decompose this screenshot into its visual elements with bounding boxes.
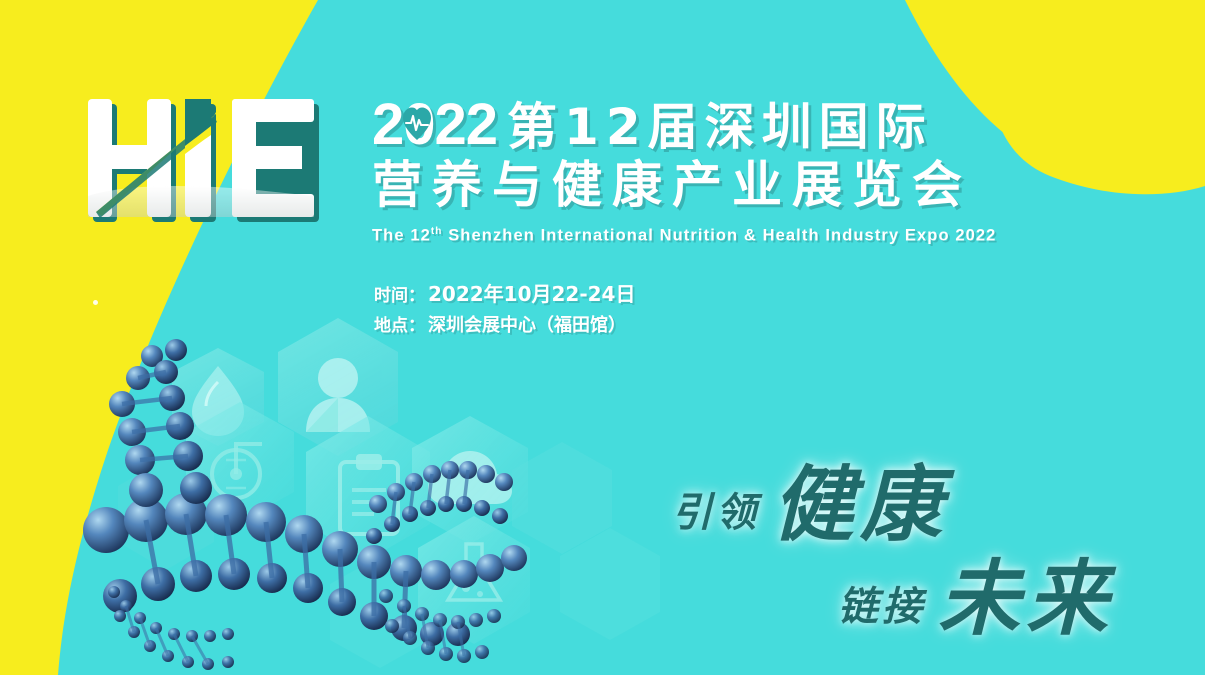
slogan-line-2-big: 未来 [938,560,1114,638]
event-venue-label: 地点： [374,312,425,341]
year-2022: 2022 [372,96,497,154]
event-date-value: 2022年10月22-24日 [428,280,635,309]
slogan-line-1-small: 引领 [672,482,760,544]
slogan-line-2: 链接 未来 [838,560,1114,638]
event-date-label: 时间： [374,282,425,311]
decorative-dot [93,300,98,305]
event-venue-value: 深圳会展中心（福田馆） [428,311,626,340]
headline-en-sup: th [431,226,443,237]
headline-block: 2022 第12届深圳国际 营养与健康产业展览会 The 12th Shenzh… [372,92,1062,248]
headline-en-prefix: The 12 [372,227,431,245]
headline-cn-line-2: 营养与健康产业展览会 [372,156,1062,214]
expo-poster: 2022 第12届深圳国际 营养与健康产业展览会 The 12th Shenzh… [0,0,1205,675]
slogan-line-1: 引领 健康 [672,466,948,544]
slogan-line-2-small: 链接 [838,576,926,638]
year-text: 2022 [372,92,497,157]
hie-logo [80,88,330,228]
heartbeat-icon [402,106,432,142]
event-info-block: 时间： 2022年10月22-24日 地点： 深圳会展中心（福田馆） [374,280,635,341]
headline-en-line: The 12th Shenzhen International Nutritio… [372,220,1062,248]
event-venue-row: 地点： 深圳会展中心（福田馆） [374,311,635,341]
event-date-row: 时间： 2022年10月22-24日 [374,280,635,311]
headline-cn-line-1: 第12届深圳国际 [507,100,933,154]
slogan-line-1-big: 健康 [772,466,948,544]
headline-en-rest: Shenzhen International Nutrition & Healt… [443,227,997,245]
headline-line-1: 2022 第12届深圳国际 [372,92,1062,154]
